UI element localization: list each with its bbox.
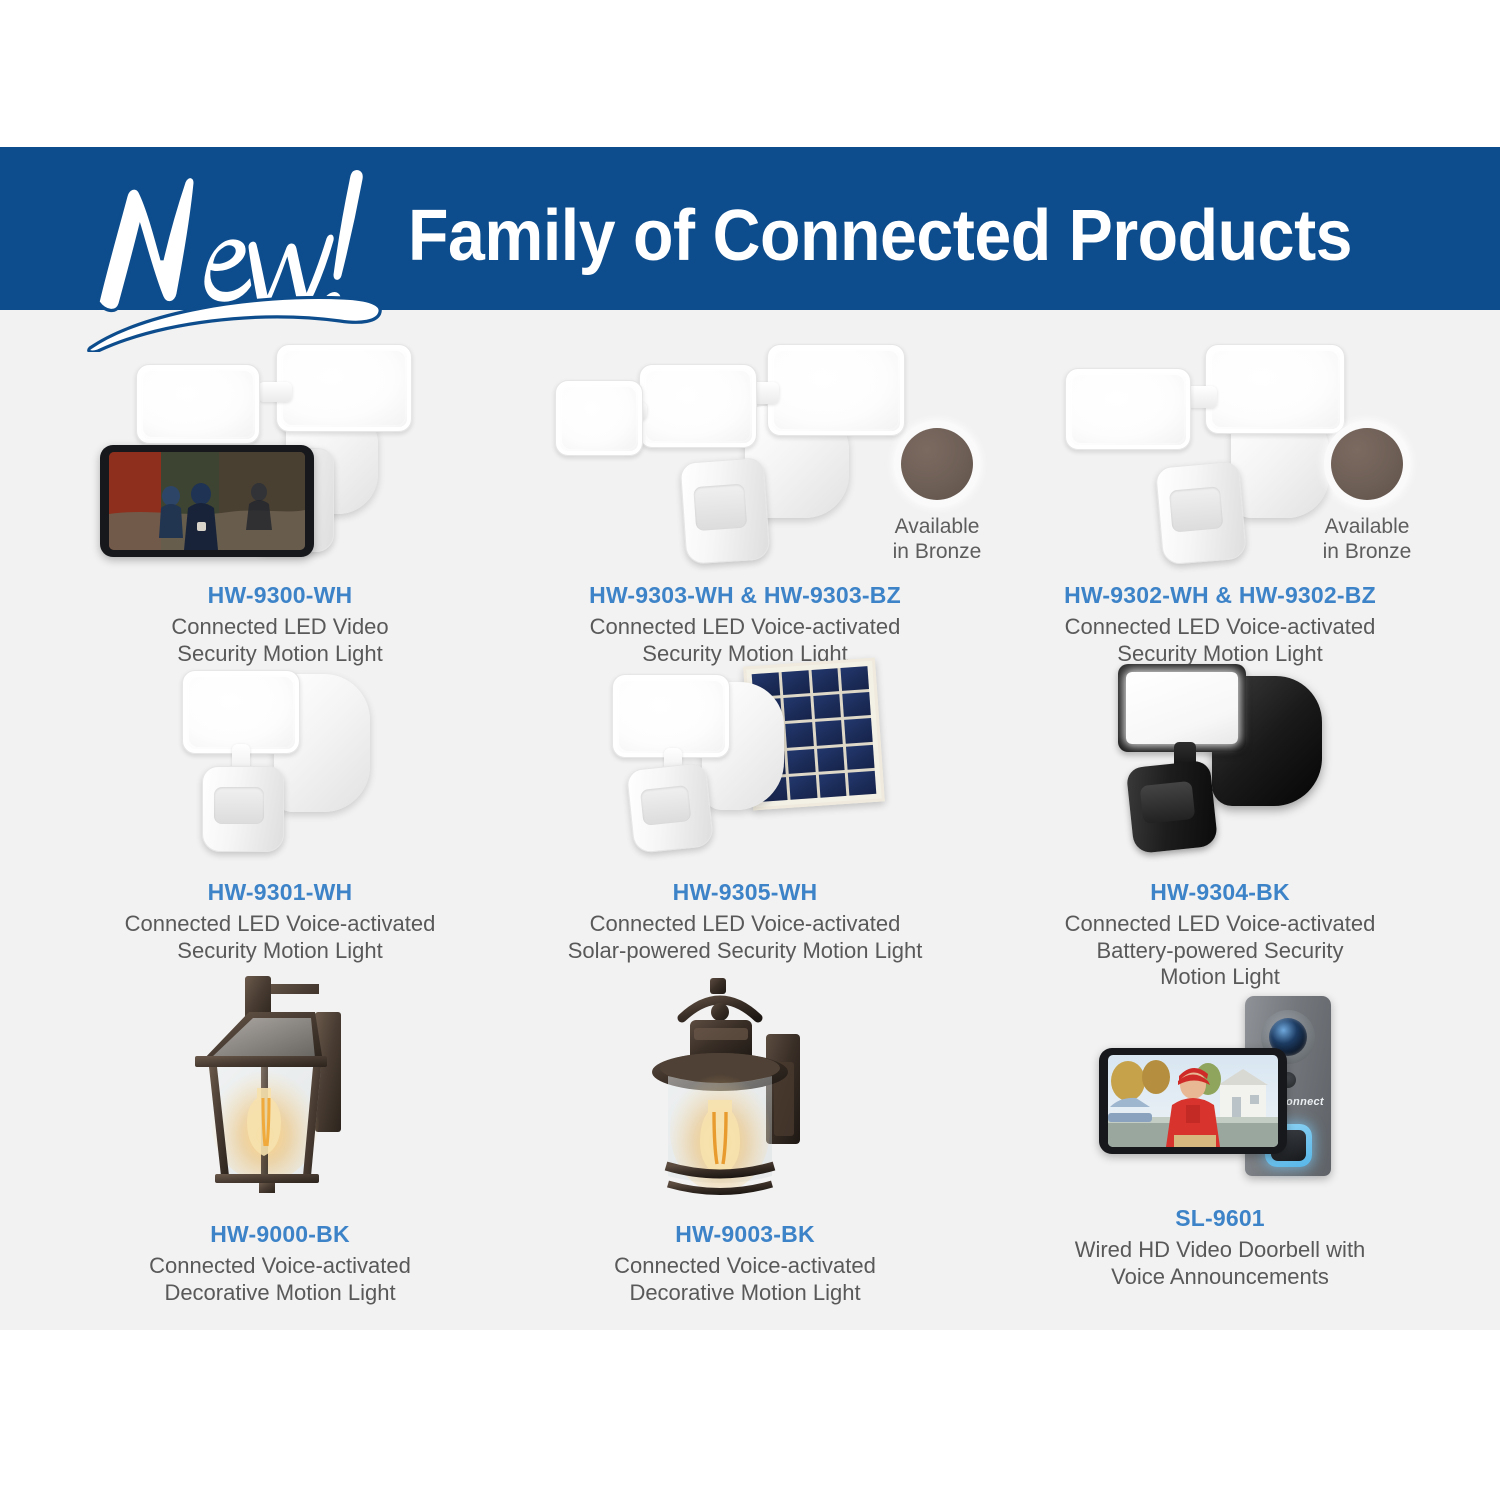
product-sku: HW-9000-BK [60, 1220, 500, 1249]
led-head-left [1065, 368, 1191, 450]
product-sku: HW-9304-BK [1000, 878, 1440, 907]
motion-sensor [626, 762, 714, 854]
led-head-right [1205, 344, 1345, 434]
led-lens [143, 371, 253, 437]
motion-sensor [680, 457, 771, 565]
page-title: Family of Connected Products [408, 195, 1352, 277]
product-caption: HW-9302-WH & HW-9302-BZ Connected LED Vo… [1000, 581, 1440, 667]
product-image-battery-motion-light-black [1100, 660, 1340, 850]
phone-screen [109, 452, 305, 550]
led-head [612, 674, 730, 758]
smartphone-preview [100, 445, 314, 557]
product-image-coach-lantern [165, 970, 395, 1200]
bronze-line-2: in Bronze [1292, 539, 1442, 564]
bronze-line-2: in Bronze [862, 539, 1012, 564]
product-sku: HW-9003-BK [510, 1220, 980, 1249]
desc-line-3: Motion Light [1000, 964, 1440, 991]
product-image-video-motion-light [100, 340, 460, 565]
product-card-hw-9304-bk[interactable]: HW-9304-BK Connected LED Voice-activated… [1000, 660, 1440, 991]
desc-line-1: Connected LED Voice-activated [1000, 614, 1440, 641]
bronze-line-1: Available [862, 514, 1012, 539]
desc-line-1: Connected Voice-activated [60, 1253, 500, 1280]
product-description: Connected LED Voice-activated Battery-po… [1000, 911, 1440, 991]
bronze-availability-hw-9303: Available in Bronze [862, 428, 1012, 564]
led-head [1118, 664, 1246, 752]
desc-line-1: Connected LED Voice-activated [510, 614, 980, 641]
led-lens [283, 351, 405, 425]
product-caption: SL-9601 Wired HD Video Doorbell with Voi… [1000, 1204, 1440, 1290]
desc-line-2: Solar-powered Security Motion Light [510, 938, 980, 965]
product-description: Connected LED Voice-activated Solar-powe… [510, 911, 980, 965]
led-lens [189, 677, 293, 747]
product-card-hw-9300-wh[interactable]: HW-9300-WH Connected LED Video Security … [60, 340, 500, 667]
product-sku: HW-9300-WH [60, 581, 500, 610]
product-image-solar-motion-light [600, 660, 890, 850]
led-lens [619, 681, 723, 751]
led-head-right [767, 344, 905, 436]
product-catalog-page: Family of Connected Products [0, 0, 1500, 1500]
desc-line-1: Connected LED Voice-activated [60, 911, 500, 938]
led-lens [562, 387, 636, 449]
motion-sensor [202, 766, 284, 852]
desc-line-1: Connected LED Voice-activated [510, 911, 980, 938]
led-lens [1072, 375, 1184, 443]
bronze-label: Available in Bronze [1292, 514, 1442, 564]
led-head-center [639, 364, 757, 448]
product-card-sl-9601[interactable]: HZ connect [1000, 990, 1440, 1290]
product-sku: HW-9303-WH & HW-9303-BZ [510, 581, 980, 610]
bronze-availability-hw-9302: Available in Bronze [1292, 428, 1442, 564]
led-head-left [136, 364, 260, 444]
led-lens [1126, 672, 1238, 744]
led-head-right [276, 344, 412, 432]
smartphone-preview [1099, 1048, 1287, 1154]
bronze-label: Available in Bronze [862, 514, 1012, 564]
motion-sensor [1126, 760, 1219, 854]
product-caption: HW-9300-WH Connected LED Video Security … [60, 581, 500, 667]
bronze-color-swatch [901, 428, 973, 500]
coach-lantern-illustration [165, 970, 395, 1200]
product-card-hw-9305-wh[interactable]: HW-9305-WH Connected LED Voice-activated… [510, 660, 980, 964]
product-caption: HW-9303-WH & HW-9303-BZ Connected LED Vo… [510, 581, 980, 667]
motion-sensor [1155, 461, 1247, 566]
desc-line-1: Connected LED Voice-activated [1000, 911, 1440, 938]
product-caption: HW-9003-BK Connected Voice-activated Dec… [510, 1220, 980, 1306]
desc-line-1: Wired HD Video Doorbell with [1000, 1237, 1440, 1264]
product-caption: HW-9305-WH Connected LED Voice-activated… [510, 878, 980, 964]
desc-line-1: Connected Voice-activated [510, 1253, 980, 1280]
product-description: Connected Voice-activated Decorative Mot… [60, 1253, 500, 1307]
product-card-hw-9301-wh[interactable]: HW-9301-WH Connected LED Voice-activated… [60, 660, 500, 964]
desc-line-2: Voice Announcements [1000, 1264, 1440, 1291]
phone-screen [1108, 1055, 1278, 1147]
product-sku: HW-9305-WH [510, 878, 980, 907]
led-lens [774, 351, 898, 429]
product-description: Connected Voice-activated Decorative Mot… [510, 1253, 980, 1307]
product-caption: HW-9000-BK Connected Voice-activated Dec… [60, 1220, 500, 1306]
product-image-nautical-lantern [638, 970, 853, 1200]
led-head [182, 670, 300, 754]
product-image-video-doorbell: HZ connect [1085, 990, 1355, 1190]
product-sku: SL-9601 [1000, 1204, 1440, 1233]
products-area: HW-9300-WH Connected LED Video Security … [0, 310, 1500, 1330]
led-lens [646, 371, 750, 441]
desc-line-2: Security Motion Light [60, 938, 500, 965]
product-caption: HW-9304-BK Connected LED Voice-activated… [1000, 878, 1440, 991]
desc-line-2: Battery-powered Security [1000, 938, 1440, 965]
led-lens [1212, 351, 1338, 427]
head-connector [258, 382, 292, 402]
desc-line-2: Decorative Motion Light [510, 1280, 980, 1307]
product-caption: HW-9301-WH Connected LED Voice-activated… [60, 878, 500, 964]
product-card-hw-9000-bk[interactable]: HW-9000-BK Connected Voice-activated Dec… [60, 970, 500, 1306]
desc-line-2: Decorative Motion Light [60, 1280, 500, 1307]
nautical-lantern-illustration [638, 970, 853, 1200]
led-head-left [555, 380, 643, 456]
product-description: Connected LED Voice-activated Security M… [60, 911, 500, 965]
product-sku: HW-9301-WH [60, 878, 500, 907]
product-card-hw-9003-bk[interactable]: HW-9003-BK Connected Voice-activated Dec… [510, 970, 980, 1306]
bronze-color-swatch [1331, 428, 1403, 500]
product-description: Wired HD Video Doorbell with Voice Annou… [1000, 1237, 1440, 1291]
desc-line-1: Connected LED Video [60, 614, 500, 641]
bronze-line-1: Available [1292, 514, 1442, 539]
product-image-single-head-motion-light [170, 660, 390, 850]
product-sku: HW-9302-WH & HW-9302-BZ [1000, 581, 1440, 610]
product-grid: HW-9300-WH Connected LED Video Security … [0, 310, 1500, 1330]
